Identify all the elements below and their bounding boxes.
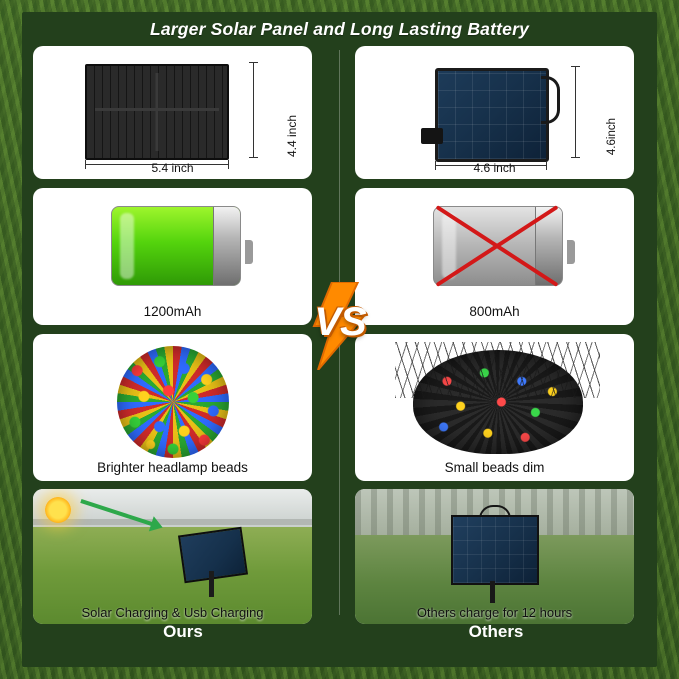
battery-icon: [111, 206, 241, 286]
solar-panel-icon: [85, 64, 229, 160]
others-charging-photo: [355, 489, 634, 624]
right-solar-panel-card: 4.6inch 4.6 inch: [355, 46, 634, 179]
bead-wires-icon: [395, 342, 600, 398]
vs-label: VS: [292, 300, 388, 345]
left-solar-panel-card: 4.4 inch 5.4 inch: [33, 46, 312, 179]
right-beads-card: Small beads dim: [355, 334, 634, 481]
junction-box-icon: [421, 128, 443, 144]
right-battery-capacity-label: 800mAh: [355, 304, 634, 319]
battery-icon: [433, 206, 563, 286]
left-beads-label: Brighter headlamp beads: [33, 460, 312, 475]
battery-cap: [535, 207, 562, 285]
width-dimension-label: 5.4 inch: [33, 161, 312, 175]
left-charging-photo-card: Solar Charging & Usb Charging: [33, 489, 312, 624]
solar-panel-pole: [209, 571, 214, 597]
left-battery-card: 1200mAh: [33, 188, 312, 325]
height-dimension-label: 4.6inch: [606, 118, 618, 155]
battery-terminal: [567, 240, 575, 264]
right-battery-card: 800mAh: [355, 188, 634, 325]
height-dimension-line: [253, 62, 254, 158]
solar-panel-pole: [490, 581, 495, 603]
sun-icon: [45, 497, 71, 523]
solar-charging-photo: [33, 489, 312, 624]
led-bead-ball-icon: [117, 346, 229, 458]
poster-title-bar: Larger Solar Panel and Long Lasting Batt…: [22, 12, 657, 46]
height-dimension-label: 4.4 inch: [285, 115, 299, 157]
right-beads-label: Small beads dim: [355, 460, 634, 475]
battery-cap: [213, 207, 240, 285]
comparison-poster: Larger Solar Panel and Long Lasting Batt…: [0, 0, 679, 679]
vs-badge: VS: [292, 278, 388, 374]
width-dimension-label: 4.6 inch: [355, 161, 634, 175]
cable-icon: [541, 76, 560, 124]
left-battery-capacity-label: 1200mAh: [33, 304, 312, 319]
left-charging-caption: Solar Charging & Usb Charging: [33, 605, 312, 620]
solar-panel-icon: [435, 68, 549, 162]
height-dimension-line: [575, 66, 576, 158]
footer-label-others: Others: [346, 622, 646, 642]
footer-label-ours: Ours: [33, 622, 333, 642]
solar-panel-photo-icon: [451, 515, 539, 585]
right-charging-caption: Others charge for 12 hours: [355, 605, 634, 620]
house-eave-line: [33, 519, 312, 525]
solar-panel-illustration: 4.6inch 4.6 inch: [355, 46, 634, 179]
battery-terminal: [245, 240, 253, 264]
solar-panel-illustration: 4.4 inch 5.4 inch: [33, 46, 312, 179]
right-charging-photo-card: Others charge for 12 hours: [355, 489, 634, 624]
left-beads-card: Brighter headlamp beads: [33, 334, 312, 481]
page-title: Larger Solar Panel and Long Lasting Batt…: [150, 19, 529, 40]
